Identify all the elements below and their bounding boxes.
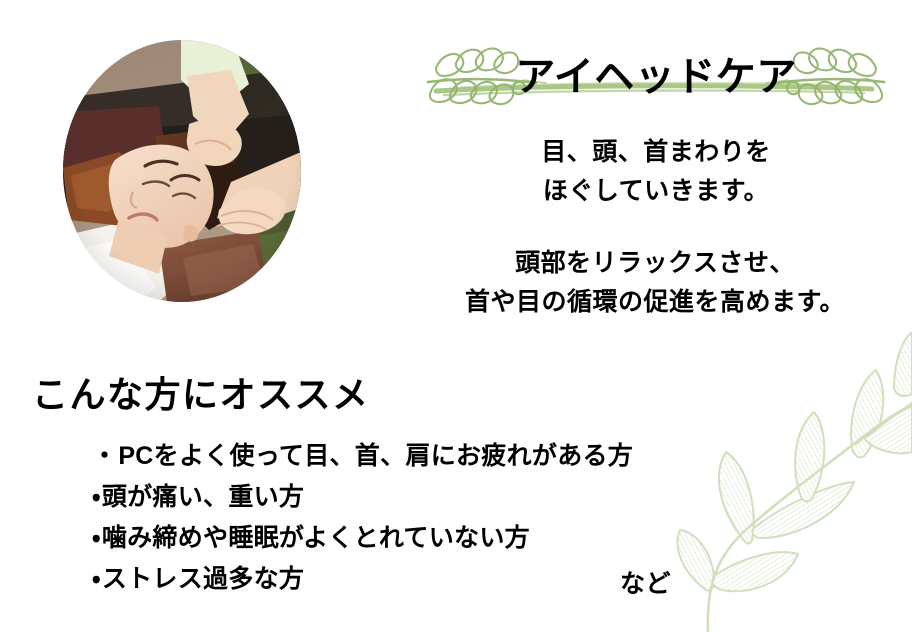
title-block: アイヘッドケア [420,38,892,116]
lead-paragraph-2-line-1: 頭部をリラックスさせ、 [412,244,898,283]
list-item-label: 頭が痛い、重い方 [102,483,304,511]
list-item: ・PCをよく使って目、首、肩にお疲れがある方 [92,444,732,485]
recommend-heading: こんな方にオススメ [32,374,370,415]
bullet-mark-icon: ・ [92,524,101,552]
list-item: ・頭が痛い、重い方 [92,485,732,526]
bullet-mark-icon: ・ [92,442,117,470]
bullet-mark-icon: ・ [92,483,101,511]
lead-paragraph-2: 頭部をリラックスさせ、 首や目の循環の促進を高めます。 [412,244,898,322]
bullet-mark-icon: ・ [92,565,101,593]
lead-paragraph-1: 目、頭、首まわりを ほぐしていきます。 [420,133,892,211]
list-item-label: 噛み締めや睡眠がよくとれていない方 [102,524,530,552]
list-item-label: PCをよく使って目、首、肩にお疲れがある方 [118,442,633,470]
head-massage-photo [63,40,301,302]
lead-paragraph-1-line-2: ほぐしていきます。 [420,172,892,211]
lead-paragraph-1-line-1: 目、頭、首まわりを [420,133,892,172]
page-title: アイヘッドケア [420,38,892,116]
etc-label: など [620,564,671,600]
slide-canvas: アイヘッドケア 目、頭、首まわりを ほぐしていきます。 頭部をリラックスさせ、 … [0,0,912,632]
list-item-label: ストレス過多な方 [102,565,304,593]
lead-paragraph-2-line-2: 首や目の循環の促進を高めます。 [412,283,898,322]
head-massage-photo-image [63,40,301,302]
list-item: ・噛み締めや睡眠がよくとれていない方 [92,526,732,567]
